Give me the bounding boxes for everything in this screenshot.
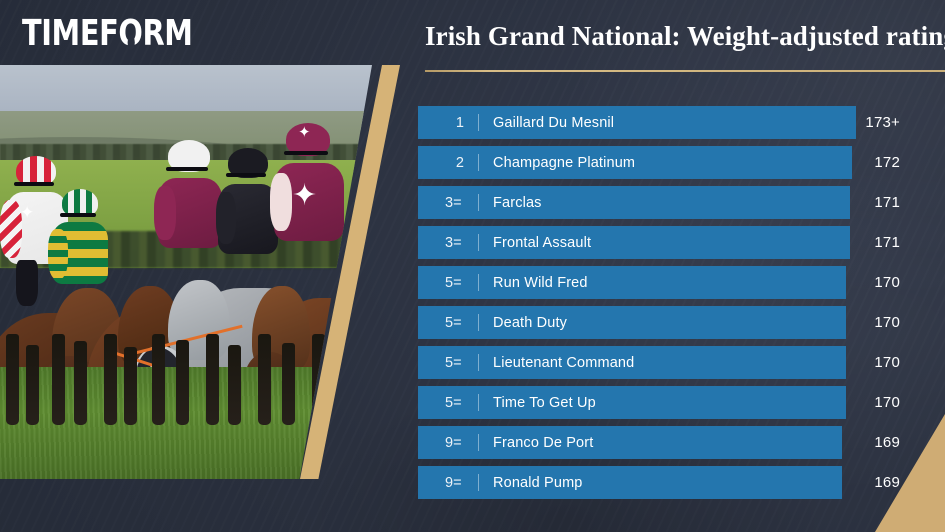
page-title-text: Irish Grand National: Weight-adjusted ra… xyxy=(425,22,935,52)
rank-name-divider xyxy=(478,314,479,331)
table-row[interactable]: 1 Gaillard Du Mesnil 173+ xyxy=(418,106,945,139)
rating-bar: 5= Lieutenant Command xyxy=(418,346,846,379)
rank-label: 3= xyxy=(418,235,464,251)
rating-bar: 5= Run Wild Fred xyxy=(418,266,846,299)
rank-name-divider xyxy=(478,114,479,131)
rank-label: 5= xyxy=(418,275,464,291)
rating-bar: 5= Time To Get Up xyxy=(418,386,846,419)
rating-value: 170 xyxy=(874,346,900,379)
rank-label: 9= xyxy=(418,475,464,491)
rating-bar: 2 Champagne Platinum xyxy=(418,146,852,179)
horse-name: Champagne Platinum xyxy=(493,155,635,171)
rating-bar: 3= Frontal Assault xyxy=(418,226,850,259)
horse-name: Farclas xyxy=(493,195,542,211)
jockey-maroon-star: ✦ ✦ xyxy=(272,123,352,263)
horse-name: Frontal Assault xyxy=(493,235,591,251)
horse-name: Death Duty xyxy=(493,315,567,331)
rank-name-divider xyxy=(478,274,479,291)
rank-label: 5= xyxy=(418,315,464,331)
rank-name-divider xyxy=(478,234,479,251)
title-underline-rule xyxy=(425,70,945,72)
rating-bar: 5= Death Duty xyxy=(418,306,846,339)
horse-name: Time To Get Up xyxy=(493,395,596,411)
timeform-logo[interactable]: TIMEFORM xyxy=(22,14,197,52)
rating-value: 170 xyxy=(874,266,900,299)
rating-bar: 3= Farclas xyxy=(418,186,850,219)
jockey-green-gold xyxy=(52,189,114,309)
rating-value: 171 xyxy=(874,226,900,259)
table-row[interactable]: 3= Frontal Assault 171 xyxy=(418,226,945,259)
rating-value: 170 xyxy=(874,386,900,419)
rating-bar: 9= Franco De Port xyxy=(418,426,842,459)
horse-name: Ronald Pump xyxy=(493,475,583,491)
table-row[interactable]: 9= Franco De Port 169 xyxy=(418,426,945,459)
rank-label: 3= xyxy=(418,195,464,211)
table-row[interactable]: 5= Lieutenant Command 170 xyxy=(418,346,945,379)
rating-bar: 9= Ronald Pump xyxy=(418,466,842,499)
table-row[interactable]: 5= Death Duty 170 xyxy=(418,306,945,339)
rank-name-divider xyxy=(478,154,479,171)
table-row[interactable]: 2 Champagne Platinum 172 xyxy=(418,146,945,179)
rank-name-divider xyxy=(478,474,479,491)
rating-value: 169 xyxy=(874,466,900,499)
rank-name-divider xyxy=(478,394,479,411)
rank-label: 9= xyxy=(418,435,464,451)
rank-label: 5= xyxy=(418,395,464,411)
table-row[interactable]: 3= Farclas 171 xyxy=(418,186,945,219)
rank-label: 5= xyxy=(418,355,464,371)
table-row[interactable]: 5= Time To Get Up 170 xyxy=(418,386,945,419)
horse-name: Franco De Port xyxy=(493,435,593,451)
horse-name: Run Wild Fred xyxy=(493,275,588,291)
page-title: Irish Grand National: Weight-adjusted ra… xyxy=(425,22,935,52)
rank-label: 1 xyxy=(418,115,464,131)
rank-name-divider xyxy=(478,194,479,211)
rating-value: 173+ xyxy=(865,106,900,139)
horse-name: Lieutenant Command xyxy=(493,355,634,371)
ratings-list: 1 Gaillard Du Mesnil 173+ 2 Champagne Pl… xyxy=(418,106,945,506)
horse-name: Gaillard Du Mesnil xyxy=(493,115,614,131)
rank-label: 2 xyxy=(418,155,464,171)
rating-bar: 1 Gaillard Du Mesnil xyxy=(418,106,856,139)
table-row[interactable]: 9= Ronald Pump 169 xyxy=(418,466,945,499)
rating-value: 171 xyxy=(874,186,900,219)
table-row[interactable]: 5= Run Wild Fred 170 xyxy=(418,266,945,299)
rank-name-divider xyxy=(478,434,479,451)
rating-value: 170 xyxy=(874,306,900,339)
rank-name-divider xyxy=(478,354,479,371)
rating-value: 169 xyxy=(874,426,900,459)
rating-value: 172 xyxy=(874,146,900,179)
